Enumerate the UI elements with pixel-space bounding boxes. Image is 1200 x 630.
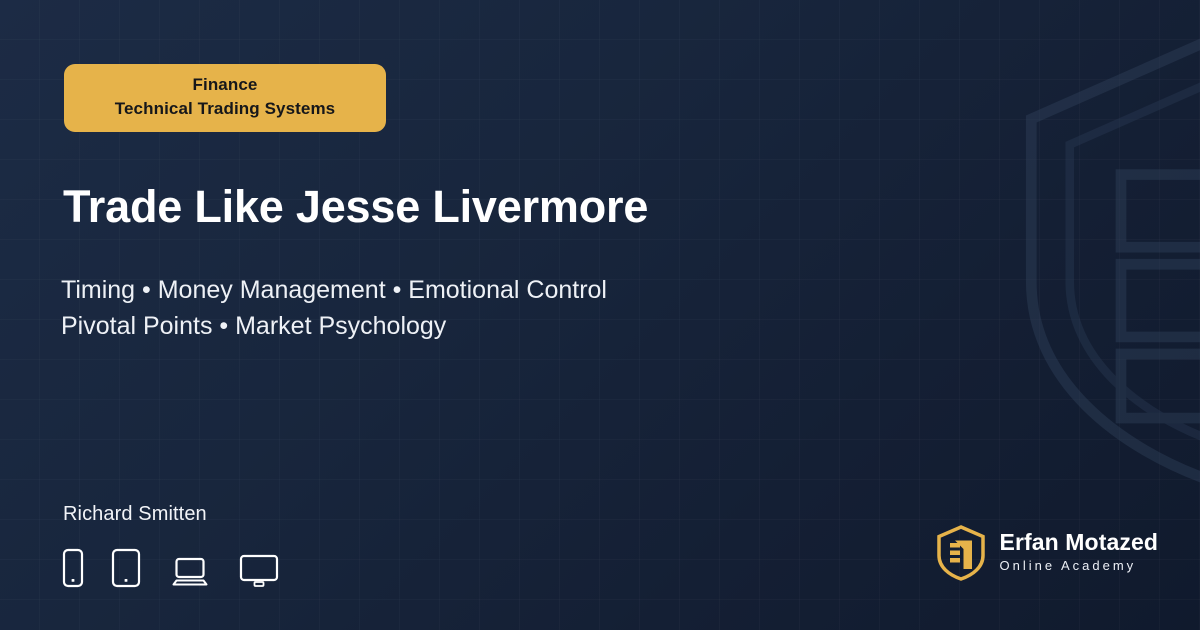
laptop-icon [168, 556, 212, 588]
badge-subcategory-label: Technical Trading Systems [78, 97, 372, 121]
shield-monogram-icon [936, 525, 986, 581]
brand-text-block: Erfan Motazed Online Academy [1000, 530, 1158, 575]
badge-category-label: Finance [78, 73, 372, 97]
tablet-icon [111, 548, 141, 588]
brand-name: Erfan Motazed [1000, 530, 1158, 556]
device-availability-list [62, 546, 279, 588]
course-title: Trade Like Jesse Livermore [63, 183, 763, 231]
brand-tagline: Online Academy [1000, 556, 1158, 576]
desktop-icon [239, 554, 279, 588]
course-banner: Finance Technical Trading Systems Trade … [0, 0, 1200, 630]
shield-monogram-watermark [1000, 25, 1200, 495]
author-name: Richard Smitten [63, 503, 207, 526]
subtitle-line-1: Timing • Money Management • Emotional Co… [61, 273, 821, 309]
category-badge: Finance Technical Trading Systems [64, 64, 386, 132]
course-subtitle: Timing • Money Management • Emotional Co… [61, 273, 821, 344]
brand-lockup: Erfan Motazed Online Academy [936, 525, 1158, 581]
phone-icon [62, 548, 84, 588]
subtitle-line-2: Pivotal Points • Market Psychology [61, 309, 821, 345]
